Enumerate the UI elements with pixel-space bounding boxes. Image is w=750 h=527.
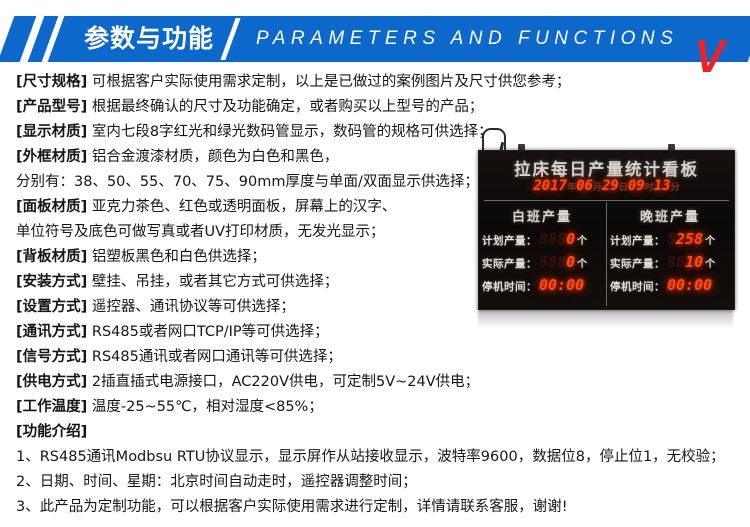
led-month-unit: 月 [593, 183, 602, 193]
led-metric-row: 实际产量：8810个 [607, 253, 733, 271]
led-metric-unit: 个 [577, 236, 587, 247]
spec-line-text: 分别有：38、50、55、70、75、90mm厚度与单面/双面显示供选择； [16, 174, 479, 190]
led-hour-unit: 时 [645, 183, 654, 193]
spec-line-text: 室内七段8字红光和绿光数码管显示，数码管的规格可供选择； [87, 124, 492, 140]
led-metric-display: 8258个 [667, 230, 715, 248]
spec-line-label: [供电方式] [16, 374, 87, 390]
led-day: 29 [602, 178, 619, 194]
led-horizontal-divider [484, 200, 729, 201]
led-hour: 09 [628, 178, 645, 194]
spec-line-text: 单位符号及底色可做写真或者UV打印材质，无发光显示； [16, 224, 385, 240]
spec-line: [工作温度] 温度-25~55℃，相对湿度<85%； [16, 395, 738, 420]
spec-line: [产品型号] 根据最终确认的尺寸及功能确定，或者购买以上型号的产品； [16, 95, 738, 120]
led-board-reflection [478, 308, 733, 328]
led-inactive-digits: 88 [667, 253, 685, 271]
led-metric-label: 计划产量： [482, 233, 537, 248]
spec-line-text: 壁挂、吊挂，或者其它方式可供选择； [87, 274, 338, 290]
led-column-day-shift: 白班产量计划产量：8880个实际产量：8880个停机时间：00:00 [479, 204, 605, 308]
spec-line-text: RS485通讯或者网口通讯等可供选择； [87, 349, 342, 365]
led-metric-row: 停机时间：00:00 [479, 276, 605, 294]
led-inactive-digits: 8 [667, 230, 676, 248]
led-metric-value: 00:00 [667, 276, 712, 294]
spec-line-text: 温度-25~55℃，相对湿度<85%； [87, 399, 323, 415]
led-metric-display: 00:00 [539, 276, 584, 294]
spec-line-text: 亚克力茶色、红色或透明面板，屏幕上的汉字、 [87, 199, 396, 215]
spec-line-label: [背板材质] [16, 249, 87, 265]
led-metric-label: 停机时间： [610, 279, 665, 294]
spec-line-label: [安装方式] [16, 274, 87, 290]
led-day-unit: 日 [619, 183, 628, 193]
banner-title-en: PARAMETERS AND FUNCTIONS [256, 24, 678, 54]
led-board-datetime: 2017年06月29日09时13分 [479, 178, 734, 194]
led-board-title: 拉床每日产量统计看板 [479, 156, 734, 180]
spec-line-label: [设置方式] [16, 299, 87, 315]
led-board-frame: 拉床每日产量统计看板 2017年06月29日09时13分 白班产量计划产量：88… [478, 150, 735, 310]
feature-line: 3、此产品为定制功能，可以根据客户实际使用需求进行定制，详情请联系客服，谢谢! [16, 495, 738, 520]
led-year-unit: 年 [567, 183, 576, 193]
spec-line-label: [产品型号] [16, 99, 87, 115]
led-minute: 13 [654, 178, 671, 194]
feature-line: 1、RS485通讯Modbsu RTU协议显示，显示屏作从站接收显示，波特率96… [16, 445, 738, 470]
led-inactive-digits: 888 [539, 230, 566, 248]
led-metric-value: 0 [566, 253, 575, 271]
spec-line-label: [通讯方式] [16, 324, 87, 340]
led-metric-value: 00:00 [539, 276, 584, 294]
led-metric-label: 停机时间： [482, 279, 537, 294]
spec-line-label: [面板材质] [16, 199, 87, 215]
led-metric-display: 8880个 [539, 253, 587, 271]
feature-line: 2、日期、时间、星期：北京时间自动走时，遥控器调整时间； [16, 470, 738, 495]
led-column-title: 白班产量 [479, 206, 605, 225]
spec-line: [尺寸规格] 可根据客户实际使用需求定制，以上是已做过的案例图片及尺寸供您参考； [16, 70, 738, 95]
spec-line-text: 可根据客户实际使用需求定制，以上是已做过的案例图片及尺寸供您参考； [87, 74, 570, 90]
spec-line-text: 2插直插式电源接口，AC220V供电，可定制5V~24V供电； [87, 374, 479, 390]
banner-title-cn: 参数与功能 [84, 20, 214, 58]
led-column-night-shift: 晚班产量计划产量：8258个实际产量：8810个停机时间：00:00 [607, 204, 733, 308]
led-minute-unit: 分 [671, 183, 680, 193]
led-column-title: 晚班产量 [607, 206, 733, 225]
spec-line-label: [外框材质] [16, 149, 87, 165]
spec-line-text: 根据最终确认的尺寸及功能确定，或者购买以上型号的产品； [87, 99, 483, 115]
led-metric-display: 8810个 [667, 253, 715, 271]
features-heading: [功能介绍] [16, 420, 738, 445]
spec-line: [供电方式] 2插直插式电源接口，AC220V供电，可定制5V~24V供电； [16, 370, 738, 395]
led-metric-row: 计划产量：8880个 [479, 230, 605, 248]
spec-line-text: 铝合金渡漆材质，颜色为白色和黑色， [87, 149, 338, 165]
spec-line: [信号方式] RS485通讯或者网口通讯等可供选择； [16, 345, 738, 370]
spec-line-label: [信号方式] [16, 349, 87, 365]
led-metric-unit: 个 [705, 259, 715, 270]
spec-line-label: [显示材质] [16, 124, 87, 140]
led-metric-display: 8880个 [539, 230, 587, 248]
spec-line-text: 遥控器、通讯协议等可供选择； [87, 299, 295, 315]
led-metric-row: 停机时间：00:00 [607, 276, 733, 294]
led-month: 06 [576, 178, 593, 194]
led-metric-row: 实际产量：8880个 [479, 253, 605, 271]
led-metric-row: 计划产量：8258个 [607, 230, 733, 248]
led-metric-label: 计划产量： [610, 233, 665, 248]
led-metric-value: 10 [685, 253, 703, 271]
page-header-banner: 参数与功能 PARAMETERS AND FUNCTIONS V [0, 16, 750, 62]
spec-line-text: RS485或者网口TCP/IP等可供选择； [87, 324, 328, 340]
spec-line-text: 铝塑板黑色和白色供选择； [87, 249, 266, 265]
spec-line-label: [工作温度] [16, 399, 87, 415]
led-metric-label: 实际产量： [610, 256, 665, 271]
led-metric-value: 258 [676, 230, 703, 248]
led-board-photo: 拉床每日产量统计看板 2017年06月29日09时13分 白班产量计划产量：88… [478, 128, 740, 328]
led-metric-label: 实际产量： [482, 256, 537, 271]
led-metric-value: 0 [566, 230, 575, 248]
led-metric-unit: 个 [705, 236, 715, 247]
led-year: 2017 [533, 178, 567, 194]
led-metric-unit: 个 [577, 259, 587, 270]
spec-line-label: [尺寸规格] [16, 74, 87, 90]
led-metric-display: 00:00 [667, 276, 712, 294]
led-inactive-digits: 888 [539, 253, 566, 271]
